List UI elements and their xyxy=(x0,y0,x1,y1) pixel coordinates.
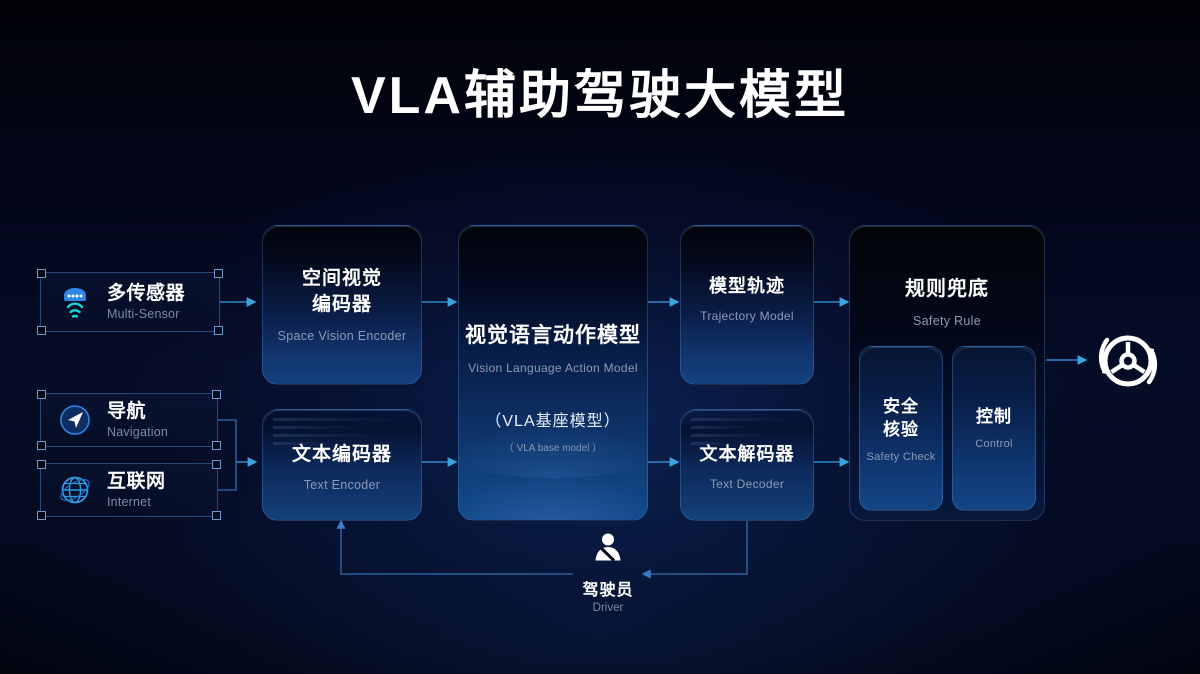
block-sublabel-en: （ VLA base model ） xyxy=(459,439,647,454)
source-label-cn: 多传感器 xyxy=(107,282,185,306)
block-label-en: Text Encoder xyxy=(304,477,381,495)
corner-mark xyxy=(37,441,46,450)
block-label-en: Space Vision Encoder xyxy=(278,328,407,346)
block-trajectory-model[interactable]: 模型轨迹 Trajectory Model xyxy=(680,225,814,385)
globe-icon xyxy=(55,470,95,510)
block-label-en: Control xyxy=(975,437,1013,452)
driver-node[interactable]: 驾驶员 Driver xyxy=(573,531,643,614)
navigation-icon xyxy=(55,400,95,440)
source-card-navigation[interactable]: 导航 Navigation xyxy=(40,393,218,447)
block-safety-check[interactable]: 安全 核验 Safety Check xyxy=(859,346,943,511)
block-label-cn: 控制 xyxy=(976,405,1012,428)
page-title: VLA辅助驾驶大模型 xyxy=(0,68,1200,125)
block-text-decoder[interactable]: 文本解码器 Text Decoder xyxy=(680,409,814,521)
block-glow xyxy=(681,226,813,384)
decorative-wave xyxy=(458,468,648,521)
driver-label-en: Driver xyxy=(593,602,624,614)
driver-person-icon xyxy=(589,531,627,574)
block-label-en: Trajectory Model xyxy=(700,308,794,325)
block-label-cn: 文本编码器 xyxy=(292,442,392,468)
wire-driver-to-textencoder xyxy=(341,521,573,574)
steering-wheel-icon xyxy=(1086,318,1170,402)
block-label-cn-line1: 空间视觉 xyxy=(302,268,382,289)
source-label-en: Navigation xyxy=(107,424,168,440)
block-label-en: Text Decoder xyxy=(710,476,784,493)
vla-architecture-diagram: VLA辅助驾驶大模型 xyxy=(0,0,1200,674)
block-vla-base-model[interactable]: 视觉语言动作模型 Vision Language Action Model （V… xyxy=(458,225,648,521)
block-label-cn: 模型轨迹 xyxy=(709,274,785,299)
block-sublabel-cn: （VLA基座模型） xyxy=(459,407,647,431)
source-label-cn: 导航 xyxy=(107,400,168,424)
block-label-cn-line2: 核验 xyxy=(883,420,919,439)
block-label-cn: 规则兜底 xyxy=(850,276,1044,304)
driver-label-cn: 驾驶员 xyxy=(582,576,633,600)
block-label-cn: 文本解码器 xyxy=(700,442,795,467)
block-label-cn-line1: 安全 xyxy=(883,397,919,416)
block-safety-rule-panel[interactable]: 规则兜底 Safety Rule 安全 核验 Safety Check 控制 C… xyxy=(849,225,1045,521)
multi-sensor-icon xyxy=(55,282,95,322)
source-label-en: Internet xyxy=(107,494,166,510)
corner-mark xyxy=(214,269,223,278)
source-label-cn: 互联网 xyxy=(107,470,166,494)
block-label-cn: 视觉语言动作模型 xyxy=(459,322,647,351)
block-glow xyxy=(953,347,1035,510)
block-label-en: Safety Check xyxy=(866,450,935,465)
source-card-multi-sensor[interactable]: 多传感器 Multi-Sensor xyxy=(40,272,220,332)
corner-mark xyxy=(37,511,46,520)
block-space-vision-encoder[interactable]: 空间视觉 编码器 Space Vision Encoder xyxy=(262,225,422,385)
wire-decoder-to-driver xyxy=(643,521,747,574)
source-card-internet[interactable]: 互联网 Internet xyxy=(40,463,218,517)
block-text-encoder[interactable]: 文本编码器 Text Encoder xyxy=(262,409,422,521)
block-label-en: Safety Rule xyxy=(850,313,1044,331)
block-label-en: Vision Language Action Model xyxy=(459,360,647,377)
block-control[interactable]: 控制 Control xyxy=(952,346,1036,511)
block-label-cn-line2: 编码器 xyxy=(312,294,372,315)
corner-mark xyxy=(37,326,46,335)
corner-mark xyxy=(212,390,221,399)
source-label-en: Multi-Sensor xyxy=(107,306,185,322)
corner-mark xyxy=(212,460,221,469)
